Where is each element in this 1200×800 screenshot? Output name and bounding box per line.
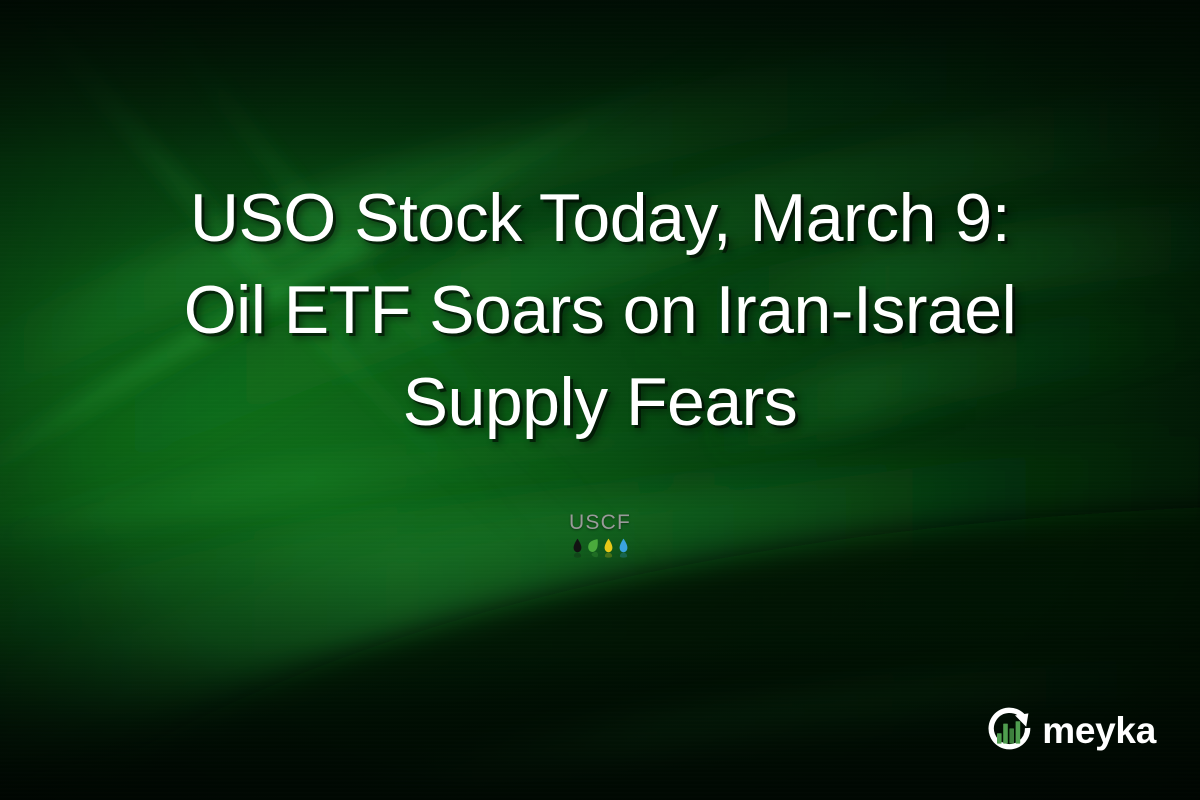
water-droplet-icon — [618, 538, 629, 558]
meyka-wordmark: meyka — [1042, 712, 1156, 749]
uscf-droplet-row — [572, 536, 629, 558]
banner-root: USO Stock Today, March 9: Oil ETF Soars … — [0, 0, 1200, 800]
leaf-droplet-icon — [587, 538, 599, 558]
gold-droplet-icon — [603, 538, 614, 558]
meyka-brand-lockup[interactable]: meyka — [982, 702, 1156, 758]
headline-line-3: Supply Fears — [40, 356, 1160, 448]
meyka-logo-icon — [982, 702, 1038, 758]
uscf-wordmark: USCF — [569, 512, 631, 533]
headline-line-2: Oil ETF Soars on Iran-Israel — [40, 264, 1160, 356]
headline-line-1: USO Stock Today, March 9: — [40, 172, 1160, 264]
headline-block: USO Stock Today, March 9: Oil ETF Soars … — [0, 172, 1200, 448]
uscf-logo: USCF — [0, 512, 1200, 558]
oil-droplet-icon — [572, 538, 583, 558]
